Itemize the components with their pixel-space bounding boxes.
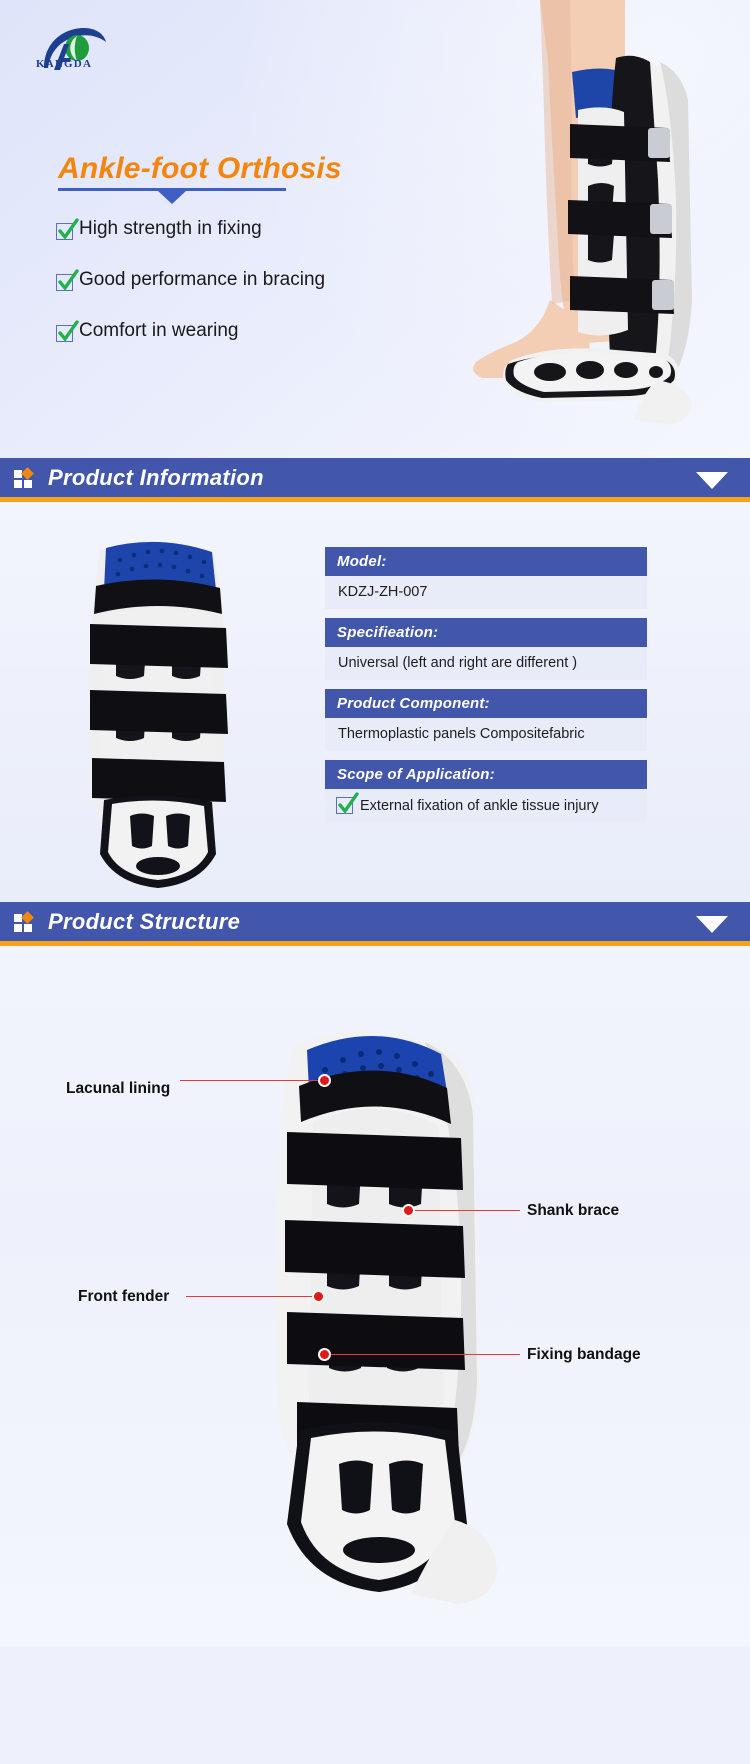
section-title: Product Structure xyxy=(48,909,240,935)
squares-diamond-icon xyxy=(14,468,36,488)
product-information-image xyxy=(0,502,320,902)
feature-label: Good performance in bracing xyxy=(79,269,325,291)
callout-leader-line xyxy=(412,1210,520,1211)
hero-product-image xyxy=(420,0,750,458)
section-header-product-structure[interactable]: Product Structure xyxy=(0,902,750,946)
callout-leader-line xyxy=(330,1354,520,1355)
product-page: KANGDA Ankle-foot Orthosis High strength… xyxy=(0,0,750,1646)
callout-dot xyxy=(318,1074,331,1087)
brand-name: KANGDA xyxy=(36,58,92,70)
feature-label: High strength in fixing xyxy=(79,218,262,240)
title-caret-icon xyxy=(158,191,186,204)
product-structure-body: Lacunal lining Shank brace Front fender … xyxy=(0,946,750,1646)
spec-value: KDZJ-ZH-007 xyxy=(325,576,647,609)
section-title: Product Information xyxy=(48,465,264,491)
callout-label-fixing-bandage: Fixing bandage xyxy=(527,1346,641,1364)
specification-table: Model: KDZJ-ZH-007 Specifieation: Univer… xyxy=(325,547,647,902)
page-title: Ankle-foot Orthosis xyxy=(58,152,342,186)
spec-header: Specifieation: xyxy=(325,618,647,647)
callout-leader-line xyxy=(186,1296,318,1297)
check-box-icon xyxy=(56,272,77,293)
product-information-body: Model: KDZJ-ZH-007 Specifieation: Univer… xyxy=(0,502,750,902)
check-box-icon xyxy=(56,323,77,344)
spec-value-row: External fixation of ankle tissue injury xyxy=(325,789,647,823)
spec-row: Scope of Application: External fixation … xyxy=(325,760,647,823)
check-box-icon xyxy=(56,221,77,242)
spec-row: Product Component: Thermoplastic panels … xyxy=(325,689,647,751)
spec-header: Scope of Application: xyxy=(325,760,647,789)
callout-label-lacunal-lining: Lacunal lining xyxy=(66,1080,170,1098)
check-box-icon xyxy=(336,795,357,816)
spec-value: Thermoplastic panels Compositefabric xyxy=(325,718,647,751)
chevron-down-icon[interactable] xyxy=(696,916,728,933)
hero-banner: KANGDA Ankle-foot Orthosis High strength… xyxy=(0,0,750,458)
spec-header: Product Component: xyxy=(325,689,647,718)
spec-header: Model: xyxy=(325,547,647,576)
callout-leader-line xyxy=(180,1080,324,1081)
chevron-down-icon[interactable] xyxy=(696,472,728,489)
callout-label-front-fender: Front fender xyxy=(78,1288,169,1306)
feature-item: High strength in fixing xyxy=(56,218,456,242)
spec-value: Universal (left and right are different … xyxy=(325,647,647,680)
spec-row: Specifieation: Universal (left and right… xyxy=(325,618,647,680)
squares-diamond-icon xyxy=(14,912,36,932)
section-header-product-information[interactable]: Product Information xyxy=(0,458,750,502)
callout-dot xyxy=(402,1204,415,1217)
spec-row: Model: KDZJ-ZH-007 xyxy=(325,547,647,609)
callout-dot xyxy=(318,1348,331,1361)
spec-value: External fixation of ankle tissue injury xyxy=(360,798,599,814)
feature-item: Comfort in wearing xyxy=(56,320,456,344)
callout-label-shank-brace: Shank brace xyxy=(527,1202,619,1220)
callout-dot xyxy=(312,1290,325,1303)
feature-list: High strength in fixing Good performance… xyxy=(56,218,456,371)
feature-item: Good performance in bracing xyxy=(56,269,456,293)
feature-label: Comfort in wearing xyxy=(79,320,238,342)
